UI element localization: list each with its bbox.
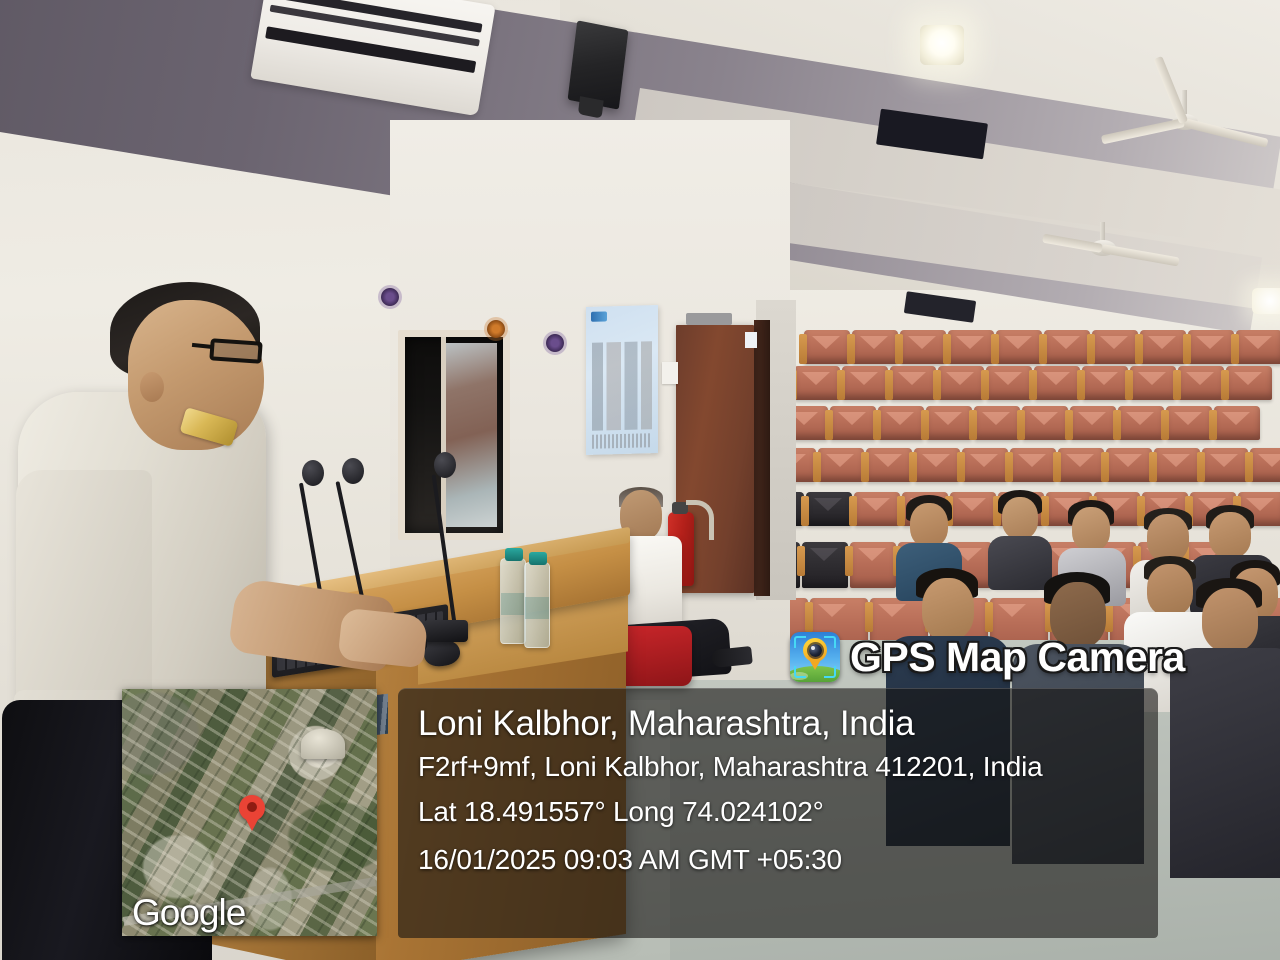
ceiling-light (920, 25, 964, 65)
wall-notice (662, 362, 678, 384)
wall-decoration-flower (546, 334, 564, 352)
water-bottle (524, 562, 550, 648)
wall-notice-secondary (745, 332, 757, 348)
location-address-label: F2rf+9mf, Loni Kalbhor, Maharashtra 4122… (418, 746, 1158, 788)
door-edge (754, 320, 770, 596)
water-bottle (500, 558, 526, 644)
screenshot-root: GPS Map Camera Loni Kalbhor, Maharashtra… (0, 0, 1280, 960)
wall-poster (586, 305, 658, 455)
ceiling-light-secondary (1252, 288, 1280, 314)
app-name-label: GPS Map Camera (850, 637, 1185, 678)
window (398, 330, 510, 540)
google-watermark: Google (132, 892, 245, 934)
location-coordinates-label: Lat 18.491557° Long 74.024102° (418, 788, 1158, 836)
wall-decoration-flower (487, 320, 505, 338)
eyeglasses (209, 338, 262, 364)
wall-decoration-flower (381, 288, 399, 306)
gps-map-camera-branding: GPS Map Camera (790, 624, 1185, 690)
gps-info-panel: Loni Kalbhor, Maharashtra, India F2rf+9m… (398, 688, 1158, 938)
gps-map-camera-logo-icon (790, 632, 840, 682)
capture-datetime-label: 16/01/2025 09:03 AM GMT +05:30 (418, 836, 1158, 884)
map-landmark-dome (301, 729, 345, 759)
wall-speaker (568, 20, 629, 109)
poster-logo-icon (591, 311, 607, 321)
map-thumbnail[interactable]: Google (122, 689, 377, 936)
location-place-label: Loni Kalbhor, Maharashtra, India (418, 703, 1158, 746)
